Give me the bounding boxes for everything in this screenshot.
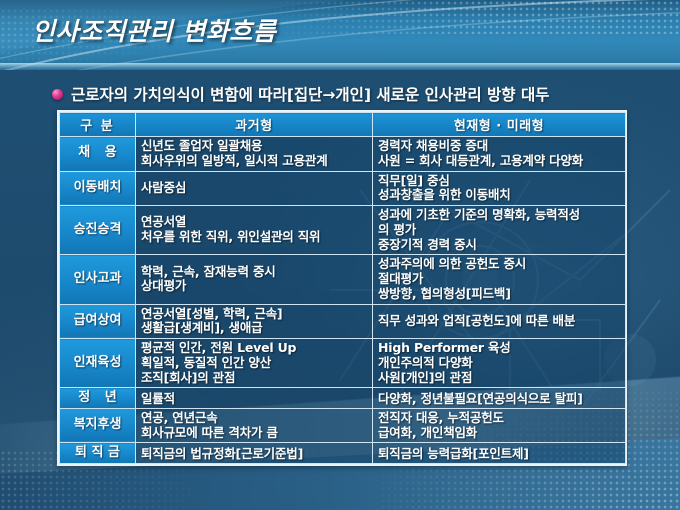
column-header-future: 현재형 · 미래형 xyxy=(373,113,626,137)
row-category-7: 정 년 xyxy=(60,388,136,409)
text-line: 연공서열 xyxy=(141,215,367,230)
table-header: 구 분 과거형 현재형 · 미래형 xyxy=(60,113,626,137)
table-row: 인재육성평균적 인간, 전원 Level Up획일적, 동질적 인간 양산조직[… xyxy=(60,339,626,388)
row-future-cell-9: 퇴직금의 능력급화[포인트제] xyxy=(373,443,626,464)
row-past-cell-3: 연공서열처우를 위한 직위, 위인설관의 직위 xyxy=(136,206,373,255)
table-row: 승진승격연공서열처우를 위한 직위, 위인설관의 직위성과에 기초한 기준의 명… xyxy=(60,206,626,255)
row-past-cell-6: 평균적 인간, 전원 Level Up획일적, 동질적 인간 양산조직[회사]의… xyxy=(136,339,373,388)
slide-title: 인사조직관리 변화흐름 xyxy=(32,12,276,48)
text-line: 전직자 대응, 누적공헌도 xyxy=(378,411,620,426)
text-line: 성과주의에 의한 공헌도 중시 xyxy=(378,257,620,272)
text-line: 개인주의적 다양화 xyxy=(378,356,620,371)
bullet-line: 근로자의 가치의식이 변함에 따라[집단→개인] 새로운 인사관리 방향 대두 xyxy=(52,83,549,105)
table-row: 인사고과학력, 근속, 잠재능력 중시상대평가성과주의에 의한 공헌도 중시절대… xyxy=(60,255,626,304)
row-future-cell-8: 전직자 대응, 누적공헌도급여화, 개인책임화 xyxy=(373,408,626,443)
text-line: 성과창출을 위한 이동배치 xyxy=(378,188,620,203)
row-past-cell-7: 일률적 xyxy=(136,388,373,409)
row-future-cell-1: 경력자 채용비중 증대사원 = 회사 대등관계, 고용계약 다양화 xyxy=(373,137,626,172)
text-line: High Performer 육성 xyxy=(378,341,620,356)
row-category-1: 채 용 xyxy=(60,137,136,172)
text-line: 상대평가 xyxy=(141,279,367,294)
text-line: 신년도 졸업자 일괄채용 xyxy=(141,139,367,154)
text-line: 의 평가 xyxy=(378,223,620,238)
row-past-cell-4: 학력, 근속, 잠재능력 중시상대평가 xyxy=(136,255,373,304)
text-line: 급여화, 개인책임화 xyxy=(378,426,620,441)
column-header-past: 과거형 xyxy=(136,113,373,137)
row-category-8: 복지후생 xyxy=(60,408,136,443)
text-line: 직무 성과와 업적[공헌도]에 따른 배분 xyxy=(378,314,620,329)
row-category-5: 급여상여 xyxy=(60,304,136,339)
table-header-row: 구 분 과거형 현재형 · 미래형 xyxy=(60,113,626,137)
text-line: 사원 = 회사 대등관계, 고용계약 다양화 xyxy=(378,154,620,169)
text-line: 회사우위의 일방적, 일시적 고용관계 xyxy=(141,154,367,169)
text-line: 성과에 기초한 기준의 명확화, 능력적성 xyxy=(378,208,620,223)
column-header-category: 구 분 xyxy=(60,113,136,137)
text-line: 사람중심 xyxy=(141,181,367,196)
table-row: 채 용신년도 졸업자 일괄채용회사우위의 일방적, 일시적 고용관계경력자 채용… xyxy=(60,137,626,172)
text-line: 연공, 연년근속 xyxy=(141,411,367,426)
comparison-table-wrapper: 구 분 과거형 현재형 · 미래형 채 용신년도 졸업자 일괄채용회사우위의 일… xyxy=(57,110,627,466)
row-future-cell-2: 직무[일] 중심성과창출을 위한 이동배치 xyxy=(373,171,626,206)
row-past-cell-5: 연공서열[성별, 학력, 근속]생활급[생계비], 생애급 xyxy=(136,304,373,339)
table-row: 정 년일률적다양화, 정년불필요[연공의식으로 탈피] xyxy=(60,388,626,409)
text-line: 평균적 인간, 전원 Level Up xyxy=(141,341,367,356)
row-past-cell-9: 퇴직금의 법규정화[근로기준법] xyxy=(136,443,373,464)
table-row: 퇴 직 금퇴직금의 법규정화[근로기준법]퇴직금의 능력급화[포인트제] xyxy=(60,443,626,464)
bullet-text: 근로자의 가치의식이 변함에 따라[집단→개인] 새로운 인사관리 방향 대두 xyxy=(71,83,549,105)
bullet-sphere-icon xyxy=(52,89,63,100)
row-future-cell-4: 성과주의에 의한 공헌도 중시절대평가쌍방향, 협의형성[피드백] xyxy=(373,255,626,304)
table-body: 채 용신년도 졸업자 일괄채용회사우위의 일방적, 일시적 고용관계경력자 채용… xyxy=(60,137,626,464)
text-line: 사원[개인]의 관점 xyxy=(378,371,620,386)
table-row: 이동배치사람중심직무[일] 중심성과창출을 위한 이동배치 xyxy=(60,171,626,206)
row-future-cell-6: High Performer 육성개인주의적 다양화사원[개인]의 관점 xyxy=(373,339,626,388)
slide: 인사조직관리 변화흐름 근로자의 가치의식이 변함에 따라[집단→개인] 새로운… xyxy=(0,0,680,510)
table-row: 급여상여연공서열[성별, 학력, 근속]생활급[생계비], 생애급직무 성과와 … xyxy=(60,304,626,339)
row-future-cell-3: 성과에 기초한 기준의 명확화, 능력적성의 평가중장기적 경력 중시 xyxy=(373,206,626,255)
text-line: 조직[회사]의 관점 xyxy=(141,371,367,386)
table-row: 복지후생연공, 연년근속회사규모에 따른 격차가 큼전직자 대응, 누적공헌도급… xyxy=(60,408,626,443)
row-category-3: 승진승격 xyxy=(60,206,136,255)
text-line: 일률적 xyxy=(141,391,367,406)
text-line: 생활급[생계비], 생애급 xyxy=(141,321,367,336)
comparison-table: 구 분 과거형 현재형 · 미래형 채 용신년도 졸업자 일괄채용회사우위의 일… xyxy=(59,112,626,464)
row-future-cell-5: 직무 성과와 업적[공헌도]에 따른 배분 xyxy=(373,304,626,339)
text-line: 퇴직금의 능력급화[포인트제] xyxy=(378,446,620,461)
text-line: 획일적, 동질적 인간 양산 xyxy=(141,356,367,371)
row-category-6: 인재육성 xyxy=(60,339,136,388)
text-line: 중장기적 경력 중시 xyxy=(378,238,620,253)
row-past-cell-2: 사람중심 xyxy=(136,171,373,206)
text-line: 절대평가 xyxy=(378,272,620,287)
slide-header-band: 인사조직관리 변화흐름 xyxy=(0,0,680,70)
row-past-cell-1: 신년도 졸업자 일괄채용회사우위의 일방적, 일시적 고용관계 xyxy=(136,137,373,172)
text-line: 쌍방향, 협의형성[피드백] xyxy=(378,287,620,302)
row-category-2: 이동배치 xyxy=(60,171,136,206)
text-line: 퇴직금의 법규정화[근로기준법] xyxy=(141,446,367,461)
row-category-9: 퇴 직 금 xyxy=(60,443,136,464)
text-line: 회사규모에 따른 격차가 큼 xyxy=(141,426,367,441)
text-line: 처우를 위한 직위, 위인설관의 직위 xyxy=(141,230,367,245)
row-past-cell-8: 연공, 연년근속회사규모에 따른 격차가 큼 xyxy=(136,408,373,443)
text-line: 다양화, 정년불필요[연공의식으로 탈피] xyxy=(378,391,620,406)
row-category-4: 인사고과 xyxy=(60,255,136,304)
row-future-cell-7: 다양화, 정년불필요[연공의식으로 탈피] xyxy=(373,388,626,409)
text-line: 경력자 채용비중 증대 xyxy=(378,139,620,154)
